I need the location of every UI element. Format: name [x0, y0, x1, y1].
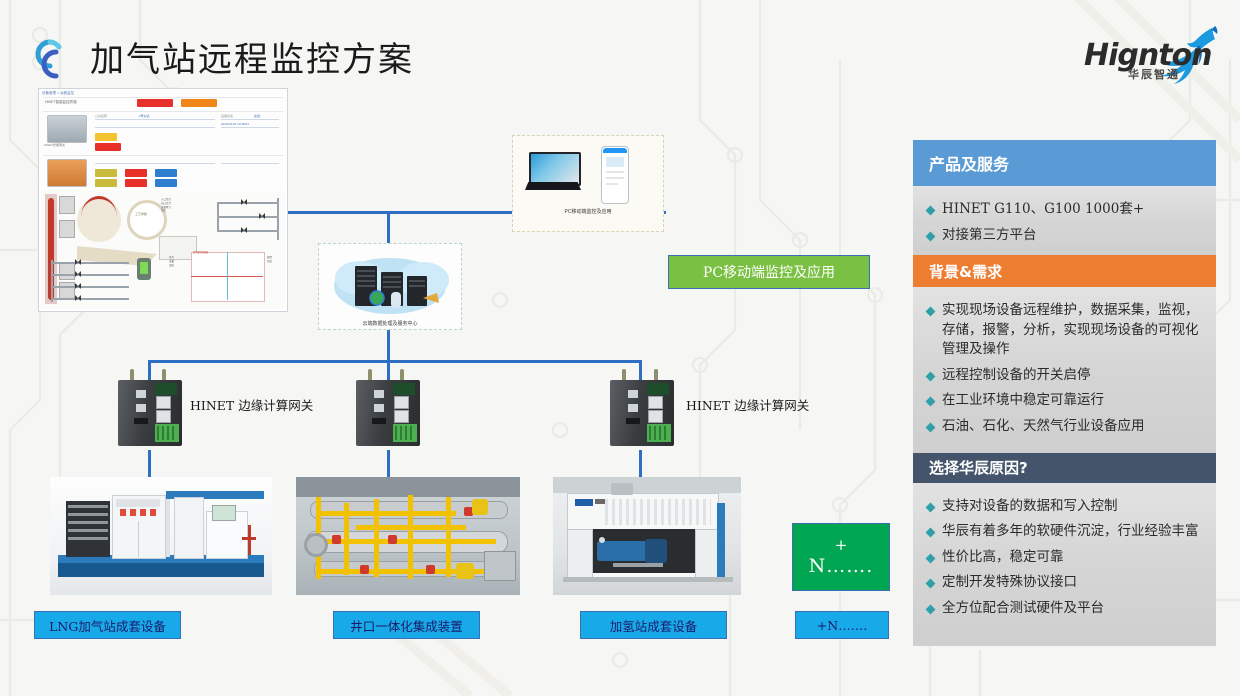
connector-gateway-bus — [148, 360, 642, 363]
section-title-products: 产品及服务 — [913, 140, 1216, 186]
pc-mobile-monitoring-label[interactable]: PC移动端监控及应用 — [668, 255, 870, 289]
more-applications-box[interactable]: + N……. — [792, 523, 890, 591]
connector-gw3-to-eq3 — [639, 450, 642, 478]
list-item: 华辰有着多年的软硬件沉淀，行业经验丰富 — [923, 522, 1204, 542]
page-title: 加气站远程监控方案 — [90, 32, 414, 81]
pc-mobile-device-photo[interactable]: PC移动端监控及应用 — [512, 135, 664, 232]
connector-gw2-to-eq2 — [387, 450, 390, 478]
section-body-background: 实现现场设备远程维护，数据采集，监视，存储，报警，分析，实现现场设备的可视化管理… — [913, 287, 1216, 452]
cloud-data-center-photo[interactable]: 云端数据处理及服务中心 — [318, 243, 462, 330]
connector-down-to-cloud — [387, 211, 390, 245]
list-item: 全方位配合测试硬件及平台 — [923, 599, 1204, 619]
list-item: HINET G110、G100 1000套+ — [923, 200, 1204, 220]
hinet-gateway-1[interactable] — [112, 368, 188, 450]
scada-monitoring-screenshot[interactable]: 设备管理 > 远程监控 HINET智能监控终端 HINET智能网关 公共名称 2… — [38, 88, 288, 312]
equipment-photo-hydrogen[interactable] — [553, 477, 741, 595]
section-body-why: 支持对设备的数据和写入控制 华辰有着多年的软硬件沉淀，行业经验丰富 性价比高，稳… — [913, 483, 1216, 647]
list-item: 远程控制设备的开关启停 — [923, 366, 1204, 386]
diamond-bullet-icon — [926, 307, 936, 317]
list-item: 实现现场设备远程维护，数据采集，监视，存储，报警，分析，实现现场设备的可视化管理… — [923, 301, 1204, 360]
section-why-huachen: 选择华辰原因? 支持对设备的数据和写入控制 华辰有着多年的软硬件沉淀，行业经验丰… — [913, 453, 1216, 647]
section-background-requirements: 背景&需求 实现现场设备远程维护，数据采集，监视，存储，报警，分析，实现现场设备… — [913, 255, 1216, 452]
cloud-servers-icon — [319, 244, 461, 329]
hinet-gateway-3[interactable] — [604, 368, 680, 450]
diamond-bullet-icon — [926, 231, 936, 241]
diamond-bullet-icon — [926, 422, 936, 432]
diamond-bullet-icon — [926, 528, 936, 538]
list-item: 性价比高，稳定可靠 — [923, 548, 1204, 568]
equipment-photo-wellhead[interactable] — [296, 477, 520, 595]
diamond-bullet-icon — [926, 397, 936, 407]
equipment-label-hydrogen[interactable]: 加氢站成套设备 — [580, 611, 727, 639]
scada-pid-diagram: 工艺参数 入口压力出口压力流量累计温度 — [41, 190, 285, 309]
hinet-gateway-2[interactable] — [350, 368, 426, 450]
more-n-text: N……. — [809, 557, 874, 576]
more-plus-sign: + — [835, 538, 848, 553]
connector-gw1-to-eq1 — [148, 450, 151, 478]
architecture-diagram: 设备管理 > 远程监控 HINET智能监控终端 HINET智能网关 公共名称 2… — [0, 80, 905, 696]
diamond-bullet-icon — [926, 553, 936, 563]
brand-chinese-name: 华辰智通 — [1128, 66, 1180, 82]
section-title-background: 背景&需求 — [913, 255, 1216, 287]
equipment-photo-lng[interactable] — [50, 477, 272, 595]
list-item: 支持对设备的数据和写入控制 — [923, 497, 1204, 517]
equipment-label-wellhead[interactable]: 井口一体化集成装置 — [333, 611, 480, 639]
info-sidebar: 产品及服务 HINET G110、G100 1000套+ 对接第三方平台 背景&… — [913, 140, 1216, 670]
equipment-label-lng[interactable]: LNG加气站成套设备 — [34, 611, 181, 639]
connector-cloud-to-bus — [387, 326, 390, 362]
diamond-bullet-icon — [926, 371, 936, 381]
hinet-gateway-1-label: HINET 边缘计算网关 — [190, 395, 313, 414]
list-item: 在工业环境中稳定可靠运行 — [923, 391, 1204, 411]
list-item: 石油、石化、天然气行业设备应用 — [923, 417, 1204, 437]
list-item: 定制开发特殊协议接口 — [923, 573, 1204, 593]
section-title-why: 选择华辰原因? — [913, 453, 1216, 483]
diamond-bullet-icon — [926, 579, 936, 589]
diamond-bullet-icon — [926, 502, 936, 512]
cloud-caption: 云端数据处理及服务中心 — [319, 320, 461, 327]
interlocking-circles-logo — [26, 32, 80, 86]
diamond-bullet-icon — [926, 206, 936, 216]
diamond-bullet-icon — [926, 604, 936, 614]
list-item: 对接第三方平台 — [923, 226, 1204, 246]
hinet-gateway-3-label: HINET 边缘计算网关 — [686, 395, 809, 414]
section-products-services: 产品及服务 HINET G110、G100 1000套+ 对接第三方平台 — [913, 140, 1216, 255]
more-applications-label[interactable]: +N……. — [795, 611, 889, 639]
section-body-products: HINET G110、G100 1000套+ 对接第三方平台 — [913, 186, 1216, 255]
pc-mobile-photo-caption: PC移动端监控及应用 — [513, 208, 663, 215]
page-header: 加气站远程监控方案 Hignton 华辰智通 — [0, 0, 1240, 96]
brand-logo: Hignton 华辰智通 — [1084, 22, 1226, 84]
